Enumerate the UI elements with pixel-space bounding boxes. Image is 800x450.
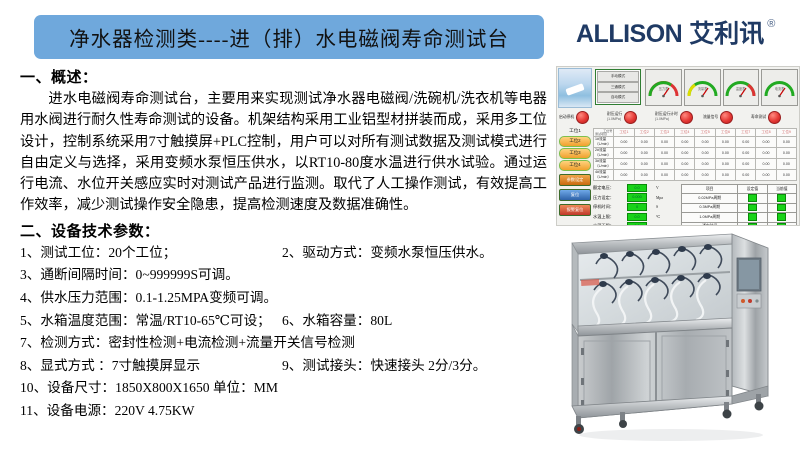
value-box <box>777 204 786 212</box>
registered-trademark-icon: ® <box>767 18 775 30</box>
spec-left: 3、通断间隔时间：0~999999S可调。 <box>20 264 239 287</box>
param-row-stoptime: 停机时间： 0 S <box>593 203 677 211</box>
column-header: 项目 <box>682 185 738 194</box>
hmi-mode-button[interactable]: 手动模式 <box>597 71 639 82</box>
status-label: 耐压运行 (1.0MPa) <box>607 112 622 121</box>
logo-text-en: ALLISON <box>576 22 682 47</box>
page-title-banner: 净水器检测类----进（排）水电磁阀寿命测试台 <box>34 15 544 59</box>
indicator-lamp-icon <box>720 111 733 124</box>
param-row-temp-lower: 水温下限： 0.0 ℃ <box>593 222 677 226</box>
hmi-status-bar: 启动停机 耐压运行 (1.0MPa) 耐压运行计时 (1.0MPa) 流量信号 <box>557 107 799 127</box>
column-header: 工位3 <box>654 129 674 137</box>
cell-value: 0.00 <box>756 159 776 170</box>
current-value-cell <box>767 194 796 204</box>
cell-value: 0.00 <box>736 170 756 181</box>
value-box <box>748 194 757 202</box>
column-header: 工位2 <box>634 129 654 137</box>
parameter-panel: 额定电压： 0.0 V 压力设定： 0.000 Mpa 停机时间： 0 <box>593 184 677 226</box>
spec-left: 1、测试工位：20个工位； <box>20 242 282 265</box>
indicator-lamp-icon <box>680 111 693 124</box>
status-item-start-stop[interactable]: 启动停机 <box>559 111 605 124</box>
slide-page: 净水器检测类----进（排）水电磁阀寿命测试台 ALLISON 艾利讯 ® 一、… <box>0 0 800 450</box>
param-label: 压力设定： <box>593 195 627 201</box>
spec-item: 11、设备电源：220V 4.75KW <box>20 400 555 423</box>
status-item-pressure-run[interactable]: 耐压运行 (1.0MPa) <box>607 111 653 124</box>
cell-value: 0.00 <box>695 170 715 181</box>
station-button-3[interactable]: 工位3 <box>559 148 591 159</box>
table-row: 1.0MPa周期 <box>682 213 797 223</box>
equipment-photo <box>556 228 800 450</box>
table-row: 2#流量（L/min） 0.00 0.00 0.00 0.00 0.00 0.0… <box>594 148 797 159</box>
cell-value: 0.00 <box>634 170 654 181</box>
cell-value: 0.00 <box>675 170 695 181</box>
set-value-cell[interactable] <box>738 194 767 204</box>
gauge-current: 电流表 <box>761 69 798 106</box>
table-row: 3#流量（L/min） 0.00 0.00 0.00 0.00 0.00 0.0… <box>594 159 797 170</box>
table-row: 通电时间 <box>682 222 797 226</box>
spec-left: 4、供水压力范围：0.1-1.25MPA变频可调。 <box>20 287 277 310</box>
cell-value: 0.00 <box>675 137 695 148</box>
param-unit: ℃ <box>656 224 660 226</box>
hmi-top-row: 手动模式 三通模式 自动模式 压力表 <box>557 67 799 107</box>
value-box <box>777 194 786 202</box>
indicator-lamp-icon <box>576 111 589 124</box>
section-overview-paragraph: 进水电磁阀寿命测试台，主要用来实现测试净水器电磁阀/洗碗机/洗衣机等电器用水阀进… <box>20 89 547 217</box>
row-label: 4#流量（L/min） <box>594 170 614 181</box>
indicator-lamp-icon <box>768 111 781 124</box>
param-row-pressure: 压力设定： 0.000 Mpa <box>593 194 677 202</box>
gauge-dial-icon: 流量表 <box>686 77 719 99</box>
row-label: 1#流量（L/min） <box>594 137 614 148</box>
param-value-field[interactable]: 0.000 <box>627 193 647 202</box>
section-specs-heading: 二、设备技术参数： <box>20 220 555 241</box>
current-value-cell <box>767 222 796 226</box>
current-value-cell <box>767 203 796 213</box>
cell-value: 0.00 <box>634 159 654 170</box>
hmi-gauge-row: 压力表 流量表 <box>644 67 799 107</box>
hmi-product-image <box>558 68 592 108</box>
spec-item: 1、测试工位：20个工位； 2、驱动方式：变频水泵恒压供水。 <box>20 242 555 265</box>
row-label: 1.0MPa周期 <box>682 213 738 223</box>
cell-value: 0.00 <box>776 137 796 148</box>
cell-value: 0.00 <box>675 148 695 159</box>
station-button-4[interactable]: 工位4 <box>559 160 591 171</box>
hmi-mode-selector[interactable]: 手动模式 三通模式 自动模式 <box>595 69 641 105</box>
gauge-temperature: 温度表 <box>723 69 760 106</box>
param-unit: ℃ <box>656 214 660 219</box>
status-label: 流量信号 <box>703 115 718 120</box>
spec-left: 10、设备尺寸：1850X800X1650 单位：MM <box>20 377 278 400</box>
hmi-station-sidebar: 工位1 工位2 工位3 工位4 参数设定 复位 报警复位 <box>557 127 593 225</box>
gauge-dial-icon: 压力表 <box>647 77 680 99</box>
row-label: 通电时间 <box>682 222 738 226</box>
gauge-pressure: 压力表 <box>645 69 682 106</box>
cell-value: 0.00 <box>756 137 776 148</box>
param-unit: S <box>656 205 658 209</box>
cell-value: 0.00 <box>614 159 634 170</box>
cell-value: 0.00 <box>654 170 674 181</box>
cell-value: 0.00 <box>756 148 776 159</box>
param-label: 额定电压： <box>593 185 627 191</box>
column-header: 工位4 <box>675 129 695 137</box>
cell-value: 0.00 <box>695 148 715 159</box>
cell-value: 0.00 <box>715 159 735 170</box>
cell-value: 0.00 <box>776 170 796 181</box>
table-row: 1#流量（L/min） 0.00 0.00 0.00 0.00 0.00 0.0… <box>594 137 797 148</box>
cell-value: 0.00 <box>675 159 695 170</box>
spec-item: 10、设备尺寸：1850X800X1650 单位：MM <box>20 377 555 400</box>
column-header: 工位1 <box>614 129 634 137</box>
cell-value: 0.00 <box>634 137 654 148</box>
spec-right: 9、测试接头：快速接头 2分/3分。 <box>282 355 555 378</box>
spec-item: 5、水箱温度范围：常温/RT10-65℃可设； 6、水箱容量：80L <box>20 310 555 333</box>
param-row-voltage: 额定电压： 0.0 V <box>593 184 677 192</box>
column-header: 工位6 <box>715 129 735 137</box>
hmi-screenshot: 手动模式 三通模式 自动模式 压力表 <box>556 66 800 226</box>
cell-value: 0.00 <box>634 148 654 159</box>
table-row: 0.02MPa周期 <box>682 194 797 204</box>
hmi-body: 工位1 工位2 工位3 工位4 参数设定 复位 报警复位 工位号 测试项目 工位… <box>557 127 799 225</box>
value-box <box>748 223 757 227</box>
table-row: 4#流量（L/min） 0.00 0.00 0.00 0.00 0.00 0.0… <box>594 170 797 181</box>
current-value-cell <box>767 213 796 223</box>
param-unit: Mpa <box>656 196 663 200</box>
hmi-mode-button[interactable]: 三通模式 <box>597 82 639 93</box>
param-value-field[interactable]: 0.0 <box>627 222 647 226</box>
status-label: 寿命测试 <box>751 115 766 120</box>
cell-value: 0.00 <box>776 148 796 159</box>
cell-value: 0.00 <box>756 170 776 181</box>
logo-text-cn: 艾利讯 <box>689 22 764 47</box>
status-label: 耐压运行计时 (1.0MPa) <box>655 112 678 121</box>
cell-value: 0.00 <box>614 170 634 181</box>
param-value-field[interactable]: 0.0 <box>627 213 647 222</box>
spec-item: 7、检测方式：密封性检测+电流检测+流量开关信号检测 <box>20 332 555 355</box>
value-box <box>777 213 786 221</box>
column-header: 当前值 <box>767 185 796 194</box>
gauge-dial-icon: 电流表 <box>763 77 796 99</box>
row-label: 3#流量（L/min） <box>594 159 614 170</box>
param-label: 停机时间： <box>593 204 627 210</box>
flow-data-table: 工位号 测试项目 工位1 工位2 工位3 工位4 工位5 工位6 工位7 工位8… <box>593 128 797 181</box>
spec-left: 8、显式方式 ：7寸触摸屏显示 <box>20 355 282 378</box>
spec-item: 3、通断间隔时间：0~999999S可调。 <box>20 264 555 287</box>
svg-text:温度表: 温度表 <box>736 86 746 91</box>
svg-text:压力表: 压力表 <box>659 86 669 91</box>
hmi-mode-button[interactable]: 自动模式 <box>597 92 639 103</box>
company-logo: ALLISON 艾利讯 ® <box>576 22 775 47</box>
cell-value: 0.00 <box>654 137 674 148</box>
spec-item: 8、显式方式 ：7寸触摸屏显示 9、测试接头：快速接头 2分/3分。 <box>20 355 555 378</box>
row-label: 2#流量（L/min） <box>594 148 614 159</box>
cell-value: 0.00 <box>695 137 715 148</box>
hmi-main-area: 工位号 测试项目 工位1 工位2 工位3 工位4 工位5 工位6 工位7 工位8… <box>593 127 799 225</box>
station-current-label: 工位1 <box>569 128 581 134</box>
table-header-row: 工位号 测试项目 工位1 工位2 工位3 工位4 工位5 工位6 工位7 工位8… <box>594 129 797 137</box>
row-label: 0.3MPa周期 <box>682 203 738 213</box>
cell-value: 0.00 <box>654 159 674 170</box>
table-row: 0.3MPa周期 <box>682 203 797 213</box>
value-box <box>748 204 757 212</box>
equipment-photo-illustration <box>556 228 800 450</box>
spec-list: 1、测试工位：20个工位； 2、驱动方式：变频水泵恒压供水。 3、通断间隔时间：… <box>10 242 555 423</box>
set-value-cell[interactable] <box>738 203 767 213</box>
cell-value: 0.00 <box>736 148 756 159</box>
reset-button[interactable]: 复位 <box>559 189 591 201</box>
cell-value: 0.00 <box>776 159 796 170</box>
station-button-2[interactable]: 工位2 <box>559 136 591 147</box>
gauge-flow: 流量表 <box>684 69 721 106</box>
column-header: 工位9 <box>776 129 796 137</box>
row-label: 0.02MPa周期 <box>682 194 738 204</box>
param-label: 水温下限： <box>593 223 627 226</box>
column-header: 工位8 <box>756 129 776 137</box>
cell-value: 0.00 <box>715 148 735 159</box>
set-value-cell[interactable] <box>738 222 767 226</box>
spec-left: 5、水箱温度范围：常温/RT10-65℃可设； <box>20 310 282 333</box>
column-header: 设定值 <box>738 185 767 194</box>
section-overview-heading: 一、概述： <box>20 66 555 87</box>
hmi-lower-area: 额定电压： 0.0 V 压力设定： 0.000 Mpa 停机时间： 0 <box>593 184 797 226</box>
cycle-setting-table: 项目 设定值 当前值 0.02MPa周期 0.3MPa周期 <box>681 184 797 226</box>
param-value-field[interactable]: 0.0 <box>627 184 647 193</box>
cell-value: 0.00 <box>736 159 756 170</box>
set-value-cell[interactable] <box>738 213 767 223</box>
value-box <box>748 213 757 221</box>
param-unit: V <box>656 186 659 190</box>
cell-value: 0.00 <box>695 159 715 170</box>
param-value-field[interactable]: 0 <box>627 203 647 212</box>
svg-text:电流表: 电流表 <box>775 86 785 91</box>
cell-value: 0.00 <box>715 170 735 181</box>
svg-text:流量表: 流量表 <box>697 86 707 91</box>
table-header-row: 项目 设定值 当前值 <box>682 185 797 194</box>
indicator-lamp-icon <box>624 111 637 124</box>
cell-value: 0.00 <box>736 137 756 148</box>
param-label: 水温上限： <box>593 214 627 220</box>
spec-right: 2、驱动方式：变频水泵恒压供水。 <box>282 242 555 265</box>
cell-value: 0.00 <box>715 137 735 148</box>
cell-value: 0.00 <box>614 137 634 148</box>
document-body: 一、概述： 进水电磁阀寿命测试台，主要用来实现测试净水器电磁阀/洗碗机/洗衣机等… <box>10 66 555 423</box>
page-title: 净水器检测类----进（排）水电磁阀寿命测试台 <box>69 22 509 52</box>
spec-left: 11、设备电源：220V 4.75KW <box>20 400 194 423</box>
settings-button[interactable]: 参数设定 <box>559 174 591 186</box>
param-row-temp-upper: 水温上限： 0.0 ℃ <box>593 213 677 221</box>
table-corner-cell: 工位号 测试项目 <box>594 129 614 137</box>
spec-right: 6、水箱容量：80L <box>282 310 555 333</box>
spec-left: 7、检测方式：密封性检测+电流检测+流量开关信号检测 <box>20 332 355 355</box>
cell-value: 0.00 <box>654 148 674 159</box>
spec-item: 4、供水压力范围：0.1-1.25MPA变频可调。 <box>20 287 555 310</box>
cell-value: 0.00 <box>614 148 634 159</box>
value-box <box>777 223 786 227</box>
column-header: 工位7 <box>736 129 756 137</box>
corner-bottom-label: 测试项目 <box>595 132 607 136</box>
column-header: 工位5 <box>695 129 715 137</box>
status-item-flow-signal[interactable]: 流量信号 <box>703 111 749 124</box>
status-label: 启动停机 <box>559 115 574 120</box>
status-item-pressure-timer[interactable]: 耐压运行计时 (1.0MPa) <box>655 111 701 124</box>
gauge-dial-icon: 温度表 <box>724 77 757 99</box>
alarm-reset-button[interactable]: 报警复位 <box>559 204 591 216</box>
status-item-life-test[interactable]: 寿命测试 <box>751 111 797 124</box>
